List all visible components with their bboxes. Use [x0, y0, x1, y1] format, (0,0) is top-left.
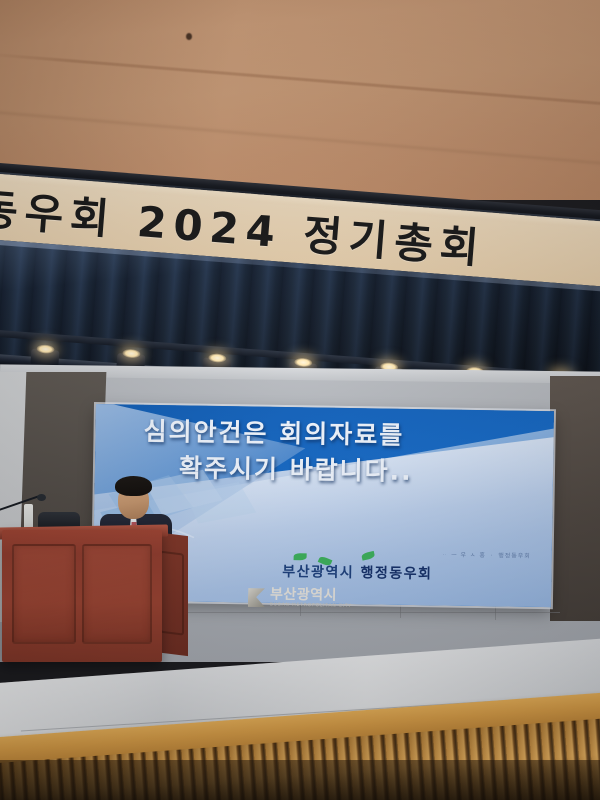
auditorium-photo: 동우회 2024 정기총회 .(화) 15:00 부산광역시청대강당	[0, 0, 600, 800]
slide-headline-line2: 확주시기 바랍니다..	[179, 451, 554, 493]
slide-leaf-icon	[294, 553, 307, 560]
back-wall-dark-panel-right	[550, 376, 600, 621]
busan-logo-korean: 부산광역시	[270, 587, 352, 602]
busan-logo-mark-icon	[248, 588, 265, 607]
slide-headline: 심의안건은 회의자료를 확주시기 바랍니다..	[143, 414, 554, 493]
podium-panel-inset	[82, 544, 152, 644]
busan-logo-text: 부산광역시 BUSAN METROPOLITAN CITY	[270, 587, 352, 609]
slide-fine-print: ᆢ ㅡ 우 ㅅ 홍 ㆍ 행정동우회	[442, 549, 531, 559]
podium-panel-inset	[12, 544, 76, 644]
truss-uplight	[30, 349, 59, 366]
busan-city-logo-plaque: 부산광역시 BUSAN METROPOLITAN CITY	[248, 587, 352, 609]
slide-footer-group: 행정동우회	[360, 565, 432, 582]
podium-side-panel-inset	[160, 551, 184, 636]
slide-footer-org: 부산광역시	[282, 564, 354, 581]
podium-area	[0, 468, 204, 668]
speaker-podium	[2, 530, 162, 662]
microphone-gooseneck	[0, 494, 42, 512]
house-floor-shadow	[0, 760, 600, 800]
microphone-head-icon	[37, 494, 46, 501]
presenter-hair	[115, 476, 152, 496]
slide-headline-line1: 심의안건은 회의자료를	[143, 417, 404, 450]
